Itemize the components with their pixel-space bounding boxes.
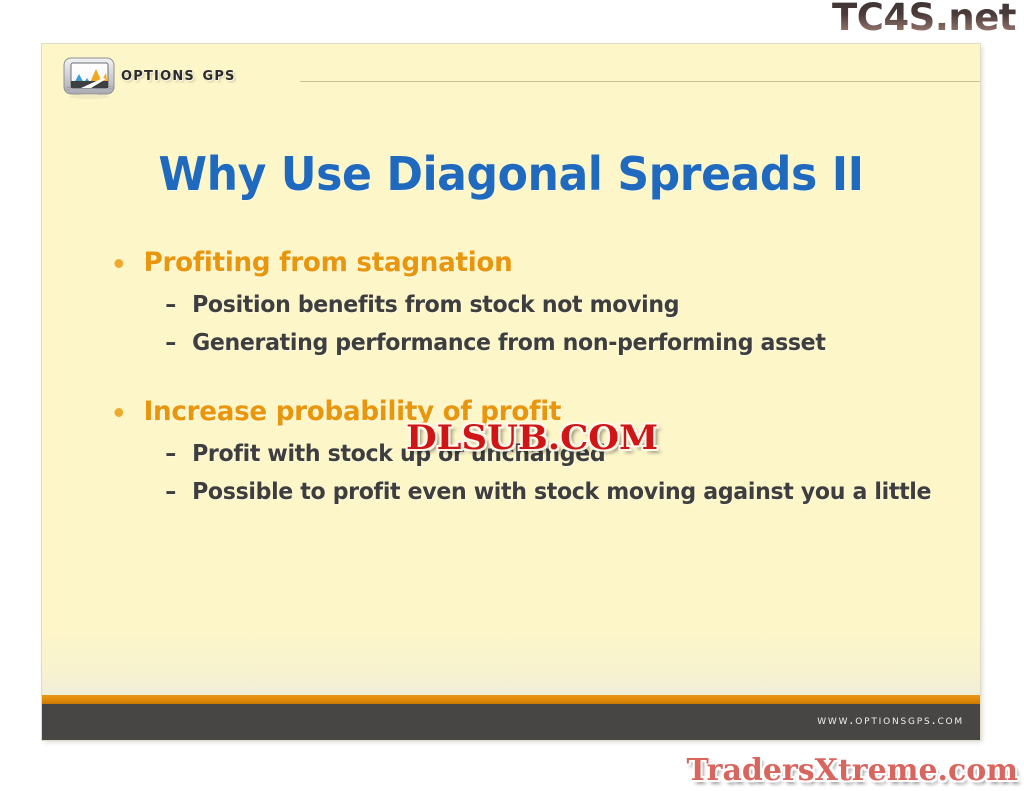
dlsub-watermark: DLSUB.COM <box>406 420 658 456</box>
brand-name: Options GPS <box>121 64 236 85</box>
dash-marker-icon: – <box>165 290 178 321</box>
slide-body: Profiting from stagnation – Position ben… <box>98 244 968 515</box>
dash-marker-icon: – <box>165 439 178 470</box>
bullet-dot-icon <box>114 408 123 417</box>
bullet-level2: – Generating performance from non-perfor… <box>98 328 933 359</box>
bullet-level2-text: Possible to profit even with stock movin… <box>192 479 931 505</box>
bullet-group: Profiting from stagnation – Position ben… <box>98 244 968 359</box>
bullet-level2-text: Generating performance from non-performi… <box>192 330 825 356</box>
bullet-level2: – Position benefits from stock not movin… <box>98 290 933 321</box>
bullet-level2: – Possible to profit even with stock mov… <box>98 477 933 508</box>
dash-marker-icon: – <box>165 477 178 508</box>
bullet-level1: Profiting from stagnation <box>98 244 942 282</box>
tc4s-watermark: TC4S.net <box>832 0 1016 38</box>
footer-url: www.OptionsGPS.com <box>817 713 964 728</box>
bullet-level1-text: Profiting from stagnation <box>144 247 513 278</box>
page-title: Why Use Diagonal Spreads II <box>61 147 961 201</box>
footer-accent-bar <box>42 695 980 704</box>
tradersxtreme-watermark: TradersXtreme.com <box>687 753 1018 789</box>
header-divider <box>300 81 980 82</box>
bullet-level2-text: Position benefits from stock not moving <box>192 292 679 318</box>
slide-footer: www.OptionsGPS.com <box>42 704 980 740</box>
gps-device-icon <box>63 57 117 99</box>
slide-header: Options GPS <box>42 44 980 104</box>
bullet-dot-icon <box>114 259 123 268</box>
dash-marker-icon: – <box>165 328 178 359</box>
presentation-slide: Options GPS Why Use Diagonal Spreads II … <box>42 44 980 740</box>
